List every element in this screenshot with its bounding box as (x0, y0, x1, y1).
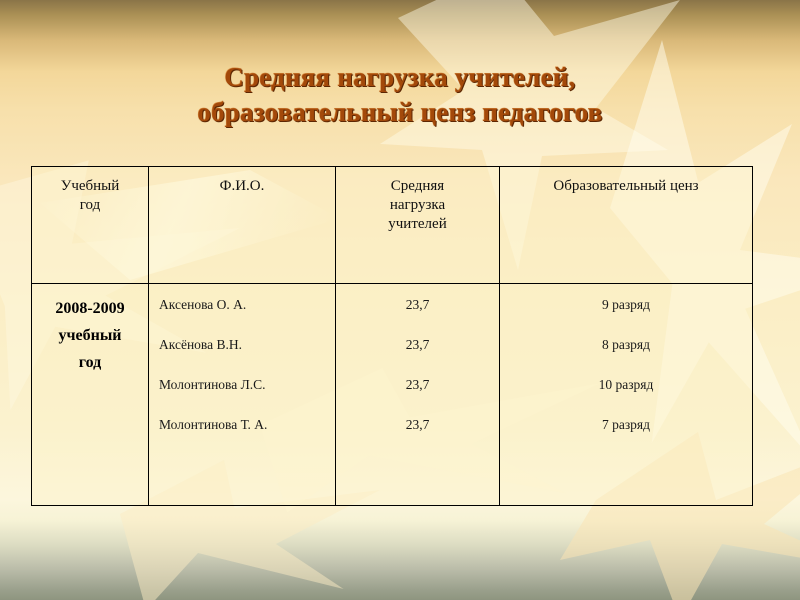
column-header-fio: Ф.И.О. (149, 167, 336, 284)
education-level-cell: 9 разряд 8 разряд 10 разряд 7 разряд (500, 284, 753, 506)
teacher-name: Аксёнова В.Н. (149, 336, 335, 376)
average-load-value: 23,7 (336, 336, 499, 376)
teacher-load-table: Учебный год Ф.И.О. Средняя нагрузка учит… (31, 166, 753, 506)
academic-year-line-1: 2008-2009 (32, 295, 148, 322)
education-level-value: 7 разряд (500, 416, 752, 456)
column-header-year: Учебный год (32, 167, 149, 284)
teacher-names-cell: Аксенова О. А. Аксёнова В.Н. Молонтинова… (149, 284, 336, 506)
average-load-cell: 23,7 23,7 23,7 23,7 (336, 284, 500, 506)
slide-title-line-1: Средняя нагрузка учителей, (0, 60, 800, 95)
average-load-value: 23,7 (336, 376, 499, 416)
academic-year-line-3: год (32, 349, 148, 376)
column-header-cenz: Образовательный ценз (500, 167, 753, 284)
column-header-fio-line-1: Ф.И.О. (153, 177, 331, 196)
column-header-cenz-line-1: Образовательный ценз (504, 177, 748, 196)
table-row: 2008-2009 учебный год Аксенова О. А. Акс… (32, 284, 753, 506)
column-header-load-line-3: учителей (340, 215, 495, 234)
average-load-value: 23,7 (336, 416, 499, 456)
column-header-year-line-2: год (36, 196, 144, 215)
column-header-load-line-2: нагрузка (340, 196, 495, 215)
education-level-value: 10 разряд (500, 376, 752, 416)
teacher-name: Молонтинова Т. А. (149, 416, 335, 456)
education-level-value: 9 разряд (500, 296, 752, 336)
academic-year-cell: 2008-2009 учебный год (32, 284, 149, 506)
column-header-year-line-1: Учебный (36, 177, 144, 196)
column-header-load-line-1: Средняя (340, 177, 495, 196)
slide-canvas: Средняя нагрузка учителей, образовательн… (0, 0, 800, 600)
academic-year-line-2: учебный (32, 322, 148, 349)
teacher-name: Молонтинова Л.С. (149, 376, 335, 416)
teacher-name: Аксенова О. А. (149, 296, 335, 336)
slide-title: Средняя нагрузка учителей, образовательн… (0, 60, 800, 130)
education-level-value: 8 разряд (500, 336, 752, 376)
table-header-row: Учебный год Ф.И.О. Средняя нагрузка учит… (32, 167, 753, 284)
slide-title-line-2: образовательный ценз педагогов (0, 95, 800, 130)
average-load-value: 23,7 (336, 296, 499, 336)
column-header-load: Средняя нагрузка учителей (336, 167, 500, 284)
